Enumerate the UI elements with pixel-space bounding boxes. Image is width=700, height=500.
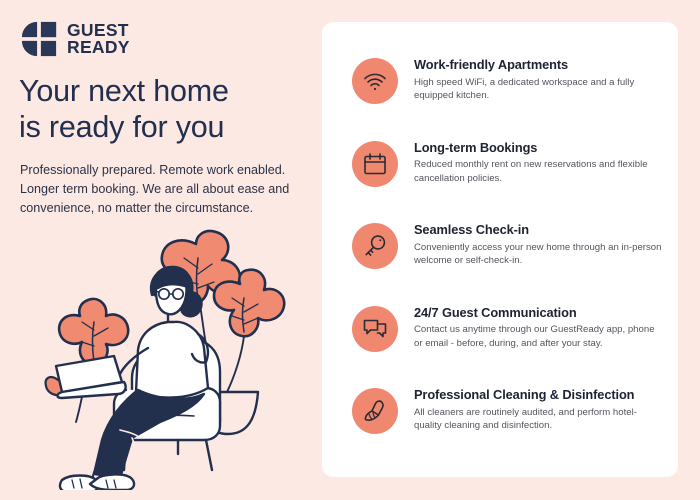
headline-line-2: is ready for you <box>19 110 309 146</box>
feature-title: Work-friendly Apartments <box>414 57 664 74</box>
calendar-icon-badge <box>352 141 398 187</box>
feature-item-guest-communication[interactable]: 24/7 Guest Communication Contact us anyt… <box>352 304 664 387</box>
feature-text: Long-term Bookings Reduced monthly rent … <box>414 139 664 186</box>
feature-text: Seamless Check-in Conveniently access yo… <box>414 221 664 268</box>
feature-title: 24/7 Guest Communication <box>414 305 664 322</box>
feature-item-professional-cleaning[interactable]: Professional Cleaning & Disinfection All… <box>352 386 664 469</box>
key-icon <box>362 233 388 259</box>
feature-title: Seamless Check-in <box>414 222 664 239</box>
calendar-icon <box>362 151 388 177</box>
feature-title: Professional Cleaning & Disinfection <box>414 387 664 404</box>
feature-text: Work-friendly Apartments High speed WiFi… <box>414 56 664 103</box>
feature-item-work-friendly-apartments[interactable]: Work-friendly Apartments High speed WiFi… <box>352 56 664 139</box>
feature-title: Long-term Bookings <box>414 140 664 157</box>
broom-icon <box>362 398 388 424</box>
feature-description: Conveniently access your new home throug… <box>414 241 664 268</box>
broom-icon-badge <box>352 388 398 434</box>
chat-bubbles-icon <box>362 316 388 342</box>
feature-item-seamless-check-in[interactable]: Seamless Check-in Conveniently access yo… <box>352 221 664 304</box>
hero-illustration <box>28 222 318 490</box>
feature-text: Professional Cleaning & Disinfection All… <box>414 386 664 433</box>
feature-text: 24/7 Guest Communication Contact us anyt… <box>414 304 664 351</box>
wifi-icon <box>362 68 388 94</box>
chat-bubbles-icon-badge <box>352 306 398 352</box>
feature-list: Work-friendly Apartments High speed WiFi… <box>352 56 664 469</box>
feature-item-long-term-bookings[interactable]: Long-term Bookings Reduced monthly rent … <box>352 139 664 222</box>
brand-name-line2: READY <box>67 39 130 56</box>
hero-column: GUEST READY Your next home is ready for … <box>0 0 322 500</box>
feature-description: High speed WiFi, a dedicated workspace a… <box>414 76 664 103</box>
hero-subheadline: Professionally prepared. Remote work ena… <box>20 161 292 218</box>
brand-logo[interactable]: GUEST READY <box>20 20 130 58</box>
feature-description: All cleaners are routinely audited, and … <box>414 406 664 433</box>
page-title: Your next home is ready for you <box>19 74 309 145</box>
key-icon-badge <box>352 223 398 269</box>
feature-description: Contact us anytime through our GuestRead… <box>414 323 664 350</box>
wifi-icon-badge <box>352 58 398 104</box>
guestready-quadrant-logo-icon <box>20 20 58 58</box>
headline-line-1: Your next home <box>19 74 309 110</box>
brand-wordmark: GUEST READY <box>67 22 130 56</box>
feature-description: Reduced monthly rent on new reservations… <box>414 158 664 185</box>
features-card: Work-friendly Apartments High speed WiFi… <box>322 22 678 477</box>
